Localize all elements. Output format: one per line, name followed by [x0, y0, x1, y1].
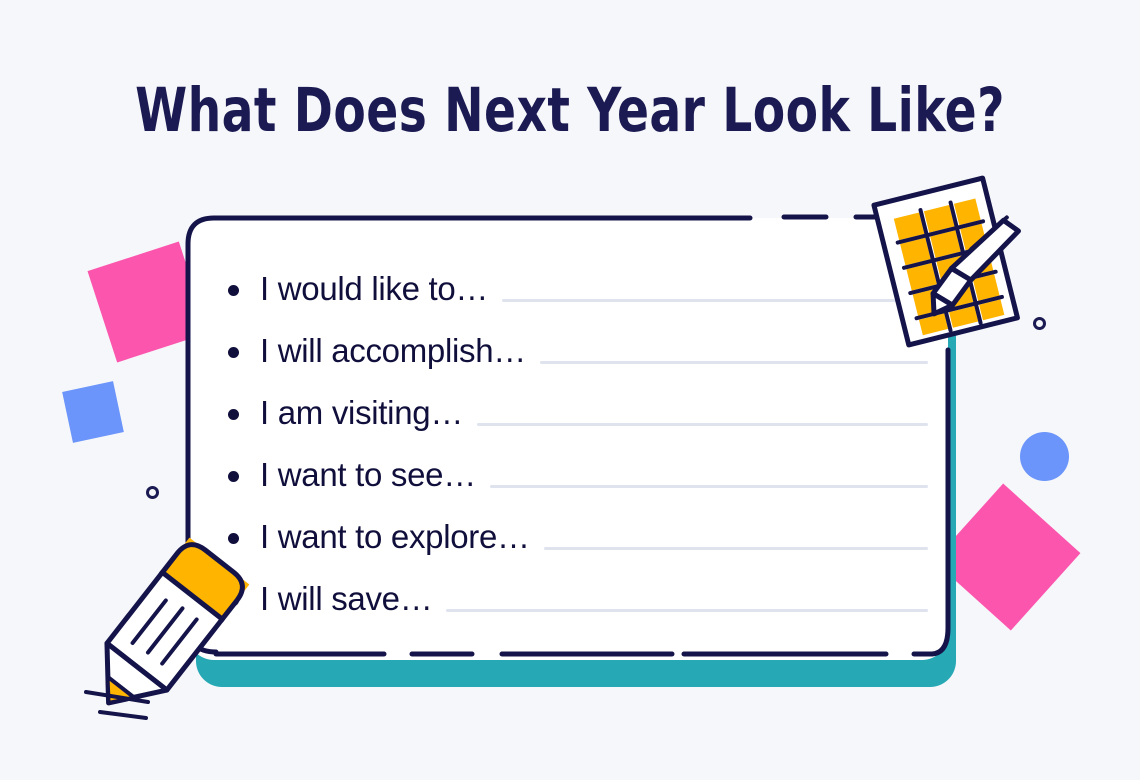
- calendar-with-pen-icon: [862, 172, 1042, 352]
- writing-line[interactable]: [446, 609, 928, 612]
- list-item[interactable]: I will accomplish…: [228, 320, 928, 382]
- list-item[interactable]: I am visiting…: [228, 382, 928, 444]
- list-item-label: I want to see…: [260, 457, 476, 493]
- goals-list: I would like to… I will accomplish… I am…: [228, 258, 928, 630]
- bullet-icon: [228, 347, 239, 358]
- bullet-icon: [228, 471, 239, 482]
- list-item[interactable]: I want to see…: [228, 444, 928, 506]
- writing-line[interactable]: [544, 547, 928, 550]
- small-ring-left-icon: [146, 486, 159, 499]
- list-item[interactable]: I would like to…: [228, 258, 928, 320]
- list-item[interactable]: I will save…: [228, 568, 928, 630]
- list-item-label: I will accomplish…: [260, 333, 526, 369]
- page-title: What Does Next Year Look Like?: [80, 78, 1060, 144]
- poster-canvas: What Does Next Year Look Like?: [0, 0, 1140, 780]
- writing-line[interactable]: [490, 485, 928, 488]
- list-item-label: I would like to…: [260, 271, 488, 307]
- writing-line[interactable]: [477, 423, 928, 426]
- list-item-label: I want to explore…: [260, 519, 530, 555]
- writing-line[interactable]: [540, 361, 928, 364]
- pencil-icon: [74, 532, 254, 732]
- list-item-label: I am visiting…: [260, 395, 463, 431]
- blue-circle-right: [1020, 432, 1069, 481]
- blue-square-left: [62, 381, 124, 443]
- bullet-icon: [228, 409, 239, 420]
- bullet-icon: [228, 285, 239, 296]
- list-item-label: I will save…: [260, 581, 432, 617]
- list-item[interactable]: I want to explore…: [228, 506, 928, 568]
